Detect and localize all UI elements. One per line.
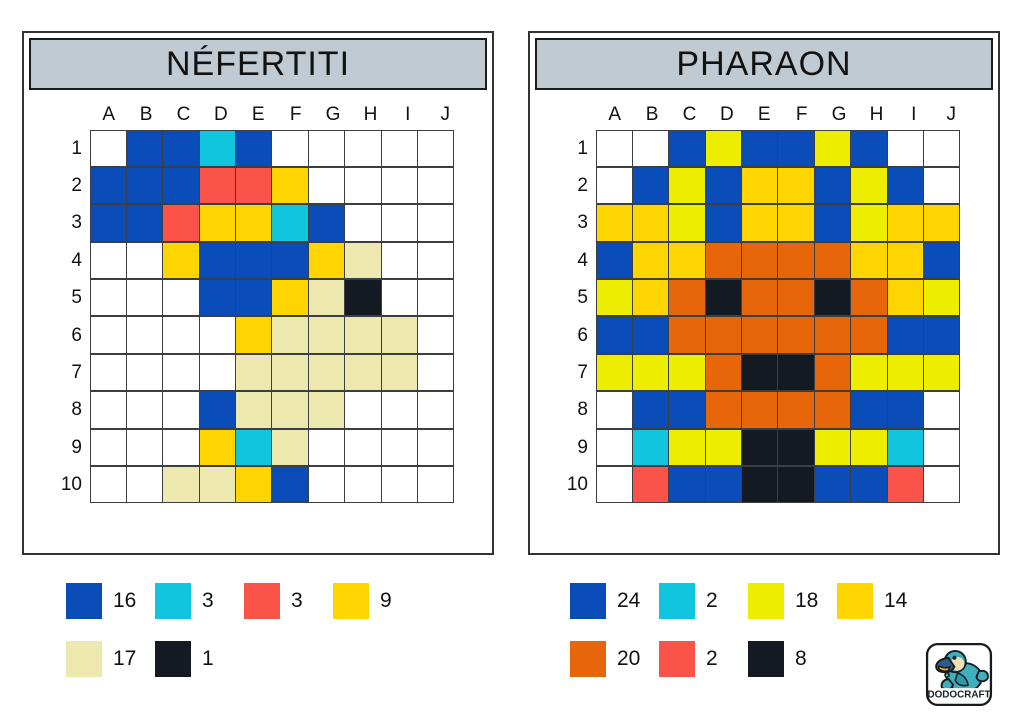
row-header-10: 10 — [52, 467, 90, 504]
grid-cell-F8[interactable] — [271, 391, 308, 428]
grid-cell-J1[interactable] — [923, 130, 960, 167]
grid-cell-A10[interactable] — [596, 466, 633, 503]
column-header-B: B — [633, 102, 670, 128]
grid-cell-B6[interactable] — [126, 316, 163, 353]
grid-cell-H5[interactable] — [850, 279, 887, 316]
grid-cell-G9[interactable] — [814, 429, 851, 466]
column-header-C: C — [165, 102, 202, 128]
grid-cell-J4[interactable] — [417, 242, 454, 279]
grid-row: 9 — [52, 429, 464, 466]
dodocraft-logo: DODOCRAFT — [921, 641, 997, 711]
legend-item-blue: 16 — [66, 583, 139, 619]
grid-cell-B1[interactable] — [632, 130, 669, 167]
grid-cell-H2[interactable] — [850, 167, 887, 204]
grid-row-cells — [596, 280, 960, 317]
legend-item-cream: 17 — [66, 641, 139, 677]
grid-cell-J8[interactable] — [417, 391, 454, 428]
grid-cell-E4[interactable] — [235, 242, 272, 279]
grid-cell-F1[interactable] — [777, 130, 814, 167]
grid-cell-A7[interactable] — [90, 354, 127, 391]
grid-cell-J1[interactable] — [417, 130, 454, 167]
grid-cell-J7[interactable] — [417, 354, 454, 391]
legend-swatch-yellow — [748, 583, 784, 619]
row-header-5: 5 — [558, 280, 596, 317]
grid-cell-C3[interactable] — [668, 204, 705, 241]
legend-swatch-gold — [837, 583, 873, 619]
grid-row: 7 — [558, 354, 970, 391]
grid-cell-H9[interactable] — [850, 429, 887, 466]
legend-count-yellow: 18 — [795, 589, 821, 613]
grid-row: 10 — [558, 467, 970, 504]
row-header-3: 3 — [558, 205, 596, 242]
grid-cell-C5[interactable] — [668, 279, 705, 316]
grid-row-cells — [596, 130, 960, 167]
legend-item-black: 8 — [748, 641, 821, 677]
column-header-G: G — [820, 102, 857, 128]
legend-count-black: 1 — [202, 647, 228, 671]
row-header-2: 2 — [52, 167, 90, 204]
grid-cell-H3[interactable] — [344, 204, 381, 241]
grid-cell-G10[interactable] — [308, 466, 345, 503]
grid-cell-I4[interactable] — [381, 242, 418, 279]
grid-cell-G1[interactable] — [814, 130, 851, 167]
grid-row: 2 — [52, 167, 464, 204]
grid-rows: 12345678910 — [52, 130, 464, 504]
grid-cell-E1[interactable] — [741, 130, 778, 167]
grid-cell-B1[interactable] — [126, 130, 163, 167]
grid-cell-A8[interactable] — [596, 391, 633, 428]
column-header-H: H — [858, 102, 895, 128]
grid-cell-B10[interactable] — [126, 466, 163, 503]
grid-cell-B4[interactable] — [126, 242, 163, 279]
grid-cell-G3[interactable] — [308, 204, 345, 241]
grid-row: 1 — [558, 130, 970, 167]
grid-row: 8 — [52, 392, 464, 429]
grid-cell-D2[interactable] — [705, 167, 742, 204]
grid-cell-D5[interactable] — [199, 279, 236, 316]
grid-cell-C9[interactable] — [668, 429, 705, 466]
legend-item-cyan: 3 — [155, 583, 228, 619]
row-header-6: 6 — [558, 317, 596, 354]
grid-cell-F8[interactable] — [777, 391, 814, 428]
grid-cell-I3[interactable] — [381, 204, 418, 241]
puzzle-card-nefertiti: NÉFERTITI ABCDEFGHIJ 12345678910 — [22, 31, 494, 555]
grid-cell-G2[interactable] — [308, 167, 345, 204]
grid-cell-C9[interactable] — [162, 429, 199, 466]
grid-cell-C1[interactable] — [668, 130, 705, 167]
grid-cell-H1[interactable] — [344, 130, 381, 167]
grid-cell-F7[interactable] — [271, 354, 308, 391]
grid-cell-B9[interactable] — [632, 429, 669, 466]
grid-cell-E6[interactable] — [235, 316, 272, 353]
grid-cell-B5[interactable] — [632, 279, 669, 316]
grid-cell-D9[interactable] — [705, 429, 742, 466]
grid-cell-A1[interactable] — [596, 130, 633, 167]
legend-count-cyan: 2 — [706, 589, 732, 613]
card-header-pharaon: PHARAON — [535, 38, 993, 90]
grid-cell-H8[interactable] — [344, 391, 381, 428]
grid-cell-D2[interactable] — [199, 167, 236, 204]
legend-swatch-cream — [66, 641, 102, 677]
grid-row: 4 — [52, 242, 464, 279]
row-header-1: 1 — [52, 130, 90, 167]
grid-cell-E8[interactable] — [741, 391, 778, 428]
grid-cell-J8[interactable] — [923, 391, 960, 428]
grid-cell-D10[interactable] — [705, 466, 742, 503]
grid-cell-H2[interactable] — [344, 167, 381, 204]
grid-cell-C10[interactable] — [668, 466, 705, 503]
grid-cell-I8[interactable] — [887, 391, 924, 428]
row-header-3: 3 — [52, 205, 90, 242]
grid-cell-A2[interactable] — [90, 167, 127, 204]
grid-cell-G4[interactable] — [814, 242, 851, 279]
grid-cell-I6[interactable] — [381, 316, 418, 353]
grid-cell-E10[interactable] — [741, 466, 778, 503]
grid-cell-A9[interactable] — [90, 429, 127, 466]
row-header-10: 10 — [558, 467, 596, 504]
grid-cell-E5[interactable] — [235, 279, 272, 316]
legend-swatch-red — [244, 583, 280, 619]
grid-cell-B10[interactable] — [632, 466, 669, 503]
grid-cell-H6[interactable] — [344, 316, 381, 353]
row-header-8: 8 — [52, 392, 90, 429]
grid-row: 2 — [558, 167, 970, 204]
grid-row-cells — [90, 167, 454, 204]
grid-cell-D3[interactable] — [199, 204, 236, 241]
grid-cell-E1[interactable] — [235, 130, 272, 167]
grid-cell-H10[interactable] — [850, 466, 887, 503]
grid-cell-J7[interactable] — [923, 354, 960, 391]
grid-cell-H7[interactable] — [344, 354, 381, 391]
grid-cell-C6[interactable] — [162, 316, 199, 353]
grid-cell-I6[interactable] — [887, 316, 924, 353]
grid-cell-E4[interactable] — [741, 242, 778, 279]
grid-cell-G6[interactable] — [308, 316, 345, 353]
grid-cell-F2[interactable] — [777, 167, 814, 204]
row-header-7: 7 — [558, 354, 596, 391]
grid-cell-E10[interactable] — [235, 466, 272, 503]
legend-swatch-gold — [333, 583, 369, 619]
pixel-grid-pharaon: ABCDEFGHIJ 12345678910 — [558, 102, 970, 504]
grid-rows: 12345678910 — [558, 130, 970, 504]
legend-swatch-orange — [570, 641, 606, 677]
grid-cell-D8[interactable] — [199, 391, 236, 428]
grid-cell-B8[interactable] — [126, 391, 163, 428]
grid-cell-E9[interactable] — [235, 429, 272, 466]
grid-cell-B7[interactable] — [632, 354, 669, 391]
grid-cell-J5[interactable] — [923, 279, 960, 316]
grid-cell-A3[interactable] — [596, 204, 633, 241]
grid-cell-H8[interactable] — [850, 391, 887, 428]
grid-cell-B4[interactable] — [632, 242, 669, 279]
grid-cell-I10[interactable] — [381, 466, 418, 503]
column-header-F: F — [783, 102, 820, 128]
grid-row-cells — [90, 242, 454, 279]
grid-cell-D8[interactable] — [705, 391, 742, 428]
column-header-J: J — [933, 102, 970, 128]
grid-cell-I4[interactable] — [887, 242, 924, 279]
grid-cell-A7[interactable] — [596, 354, 633, 391]
grid-cell-A9[interactable] — [596, 429, 633, 466]
grid-cell-J3[interactable] — [417, 204, 454, 241]
grid-cell-G5[interactable] — [814, 279, 851, 316]
grid-row: 6 — [52, 317, 464, 354]
grid-cell-E3[interactable] — [235, 204, 272, 241]
grid-cell-H3[interactable] — [850, 204, 887, 241]
grid-cell-A3[interactable] — [90, 204, 127, 241]
column-header-A: A — [596, 102, 633, 128]
grid-cell-F9[interactable] — [777, 429, 814, 466]
grid-cell-D6[interactable] — [705, 316, 742, 353]
legend-swatch-black — [155, 641, 191, 677]
grid-cell-F10[interactable] — [777, 466, 814, 503]
grid-cell-I8[interactable] — [381, 391, 418, 428]
grid-cell-G10[interactable] — [814, 466, 851, 503]
grid-cell-E7[interactable] — [741, 354, 778, 391]
grid-cell-C8[interactable] — [668, 391, 705, 428]
grid-cell-J2[interactable] — [417, 167, 454, 204]
row-header-4: 4 — [558, 242, 596, 279]
grid-cell-F2[interactable] — [271, 167, 308, 204]
grid-cell-A4[interactable] — [90, 242, 127, 279]
grid-cell-H4[interactable] — [850, 242, 887, 279]
grid-cell-F1[interactable] — [271, 130, 308, 167]
legend-count-cyan: 3 — [202, 589, 228, 613]
grid-cell-G6[interactable] — [814, 316, 851, 353]
legend-swatch-cyan — [155, 583, 191, 619]
grid-cell-F4[interactable] — [271, 242, 308, 279]
column-header-H: H — [352, 102, 389, 128]
row-header-9: 9 — [52, 429, 90, 466]
grid-cell-C4[interactable] — [668, 242, 705, 279]
column-header-E: E — [240, 102, 277, 128]
grid-cell-H4[interactable] — [344, 242, 381, 279]
grid-cell-I7[interactable] — [381, 354, 418, 391]
grid-row-cells — [596, 429, 960, 466]
grid-cell-G9[interactable] — [308, 429, 345, 466]
legend-count-orange: 20 — [617, 647, 643, 671]
grid-cell-A6[interactable] — [90, 316, 127, 353]
column-header-C: C — [671, 102, 708, 128]
grid-cell-I9[interactable] — [887, 429, 924, 466]
grid-cell-J9[interactable] — [923, 429, 960, 466]
grid-cell-G5[interactable] — [308, 279, 345, 316]
grid-cell-I10[interactable] — [887, 466, 924, 503]
grid-cell-C4[interactable] — [162, 242, 199, 279]
grid-cell-H1[interactable] — [850, 130, 887, 167]
grid-cell-G8[interactable] — [814, 391, 851, 428]
legend-swatch-blue — [66, 583, 102, 619]
grid-cell-G7[interactable] — [308, 354, 345, 391]
grid-cell-G3[interactable] — [814, 204, 851, 241]
grid-row-cells — [596, 242, 960, 279]
grid-cell-A2[interactable] — [596, 167, 633, 204]
grid-cell-B2[interactable] — [126, 167, 163, 204]
grid-cell-E6[interactable] — [741, 316, 778, 353]
grid-row-cells — [90, 280, 454, 317]
card-header-nefertiti: NÉFERTITI — [29, 38, 487, 90]
grid-cell-G2[interactable] — [814, 167, 851, 204]
grid-cell-D9[interactable] — [199, 429, 236, 466]
grid-row-cells — [596, 205, 960, 242]
grid-cell-I9[interactable] — [381, 429, 418, 466]
grid-cell-B2[interactable] — [632, 167, 669, 204]
grid-cell-B5[interactable] — [126, 279, 163, 316]
grid-cell-C5[interactable] — [162, 279, 199, 316]
grid-cell-A10[interactable] — [90, 466, 127, 503]
grid-row-cells — [90, 130, 454, 167]
grid-cell-J5[interactable] — [417, 279, 454, 316]
grid-cell-A5[interactable] — [596, 279, 633, 316]
grid-cell-A5[interactable] — [90, 279, 127, 316]
grid-cell-J9[interactable] — [417, 429, 454, 466]
grid-row-cells — [90, 205, 454, 242]
grid-cell-H10[interactable] — [344, 466, 381, 503]
grid-cell-C8[interactable] — [162, 391, 199, 428]
legend-item-gold: 14 — [837, 583, 910, 619]
grid-cell-J6[interactable] — [923, 316, 960, 353]
legend-swatch-black — [748, 641, 784, 677]
legend-swatch-red — [659, 641, 695, 677]
grid-cell-C3[interactable] — [162, 204, 199, 241]
grid-cell-I3[interactable] — [887, 204, 924, 241]
grid-cell-J6[interactable] — [417, 316, 454, 353]
grid-cell-I2[interactable] — [887, 167, 924, 204]
grid-row: 4 — [558, 242, 970, 279]
grid-row-cells — [596, 317, 960, 354]
grid-cell-F6[interactable] — [271, 316, 308, 353]
grid-row-cells — [596, 392, 960, 429]
grid-row: 3 — [558, 205, 970, 242]
grid-cell-I1[interactable] — [887, 130, 924, 167]
grid-cell-B7[interactable] — [126, 354, 163, 391]
grid-cell-H5[interactable] — [344, 279, 381, 316]
column-header-D: D — [202, 102, 239, 128]
legend-count-cream: 17 — [113, 647, 139, 671]
grid-row: 9 — [558, 429, 970, 466]
grid-cell-D1[interactable] — [199, 130, 236, 167]
grid-cell-B3[interactable] — [632, 204, 669, 241]
grid-cell-G4[interactable] — [308, 242, 345, 279]
grid-cell-I7[interactable] — [887, 354, 924, 391]
legend-count-blue: 24 — [617, 589, 643, 613]
grid-cell-F7[interactable] — [777, 354, 814, 391]
grid-cell-C7[interactable] — [162, 354, 199, 391]
grid-cell-G1[interactable] — [308, 130, 345, 167]
grid-cell-D4[interactable] — [705, 242, 742, 279]
legend-count-gold: 9 — [380, 589, 406, 613]
grid-cell-C2[interactable] — [668, 167, 705, 204]
grid-cell-C6[interactable] — [668, 316, 705, 353]
grid-cell-F6[interactable] — [777, 316, 814, 353]
grid-cell-J2[interactable] — [923, 167, 960, 204]
grid-cell-D10[interactable] — [199, 466, 236, 503]
grid-cell-E5[interactable] — [741, 279, 778, 316]
grid-cell-B8[interactable] — [632, 391, 669, 428]
grid-cell-D7[interactable] — [199, 354, 236, 391]
row-header-8: 8 — [558, 392, 596, 429]
puzzle-card-pharaon: PHARAON ABCDEFGHIJ 12345678910 — [528, 31, 1000, 555]
grid-cell-J3[interactable] — [923, 204, 960, 241]
grid-cell-B3[interactable] — [126, 204, 163, 241]
grid-cell-B6[interactable] — [632, 316, 669, 353]
grid-cell-H6[interactable] — [850, 316, 887, 353]
grid-cell-F3[interactable] — [271, 204, 308, 241]
grid-cell-C1[interactable] — [162, 130, 199, 167]
row-header-2: 2 — [558, 167, 596, 204]
row-header-5: 5 — [52, 280, 90, 317]
grid-cell-F10[interactable] — [271, 466, 308, 503]
grid-cell-D1[interactable] — [705, 130, 742, 167]
grid-cell-I5[interactable] — [381, 279, 418, 316]
grid-cell-E8[interactable] — [235, 391, 272, 428]
legend-item-blue: 24 — [570, 583, 643, 619]
row-header-9: 9 — [558, 429, 596, 466]
grid-cell-J10[interactable] — [923, 466, 960, 503]
grid-cell-A8[interactable] — [90, 391, 127, 428]
grid-cell-A1[interactable] — [90, 130, 127, 167]
grid-cell-A4[interactable] — [596, 242, 633, 279]
grid-cell-J4[interactable] — [923, 242, 960, 279]
grid-cell-E7[interactable] — [235, 354, 272, 391]
legend-count-red: 3 — [291, 589, 317, 613]
grid-cell-C10[interactable] — [162, 466, 199, 503]
dodocraft-logo-icon: DODOCRAFT — [921, 641, 997, 711]
grid-cell-D4[interactable] — [199, 242, 236, 279]
grid-cell-D3[interactable] — [705, 204, 742, 241]
grid-cell-B9[interactable] — [126, 429, 163, 466]
grid-row: 1 — [52, 130, 464, 167]
grid-cell-E2[interactable] — [741, 167, 778, 204]
grid-cell-A6[interactable] — [596, 316, 633, 353]
column-header-B: B — [127, 102, 164, 128]
grid-cell-H7[interactable] — [850, 354, 887, 391]
grid-cell-C2[interactable] — [162, 167, 199, 204]
grid-cell-F5[interactable] — [777, 279, 814, 316]
grid-row: 8 — [558, 392, 970, 429]
legend-item-red: 2 — [659, 641, 732, 677]
grid-cell-E3[interactable] — [741, 204, 778, 241]
column-header-E: E — [746, 102, 783, 128]
grid-cell-J10[interactable] — [417, 466, 454, 503]
row-header-7: 7 — [52, 354, 90, 391]
grid-cell-H9[interactable] — [344, 429, 381, 466]
grid-cell-D7[interactable] — [705, 354, 742, 391]
grid-cell-F5[interactable] — [271, 279, 308, 316]
page-title: NÉFERTITI — [166, 45, 350, 84]
grid-cell-E2[interactable] — [235, 167, 272, 204]
grid-cell-F9[interactable] — [271, 429, 308, 466]
grid-cell-D5[interactable] — [705, 279, 742, 316]
grid-cell-I5[interactable] — [887, 279, 924, 316]
grid-row-cells — [596, 467, 960, 504]
legend-count-gold: 14 — [884, 589, 910, 613]
row-header-1: 1 — [558, 130, 596, 167]
grid-cell-G7[interactable] — [814, 354, 851, 391]
grid-cell-C7[interactable] — [668, 354, 705, 391]
grid-cell-E9[interactable] — [741, 429, 778, 466]
grid-cell-I1[interactable] — [381, 130, 418, 167]
grid-cell-F3[interactable] — [777, 204, 814, 241]
grid-cell-D6[interactable] — [199, 316, 236, 353]
grid-cell-F4[interactable] — [777, 242, 814, 279]
grid-row-cells — [90, 317, 454, 354]
grid-cell-G8[interactable] — [308, 391, 345, 428]
grid-cell-I2[interactable] — [381, 167, 418, 204]
color-legend-nefertiti: 16339171 — [66, 583, 486, 699]
row-header-4: 4 — [52, 242, 90, 279]
page-root: NÉFERTITI ABCDEFGHIJ 12345678910 PHARAON… — [0, 0, 1024, 724]
